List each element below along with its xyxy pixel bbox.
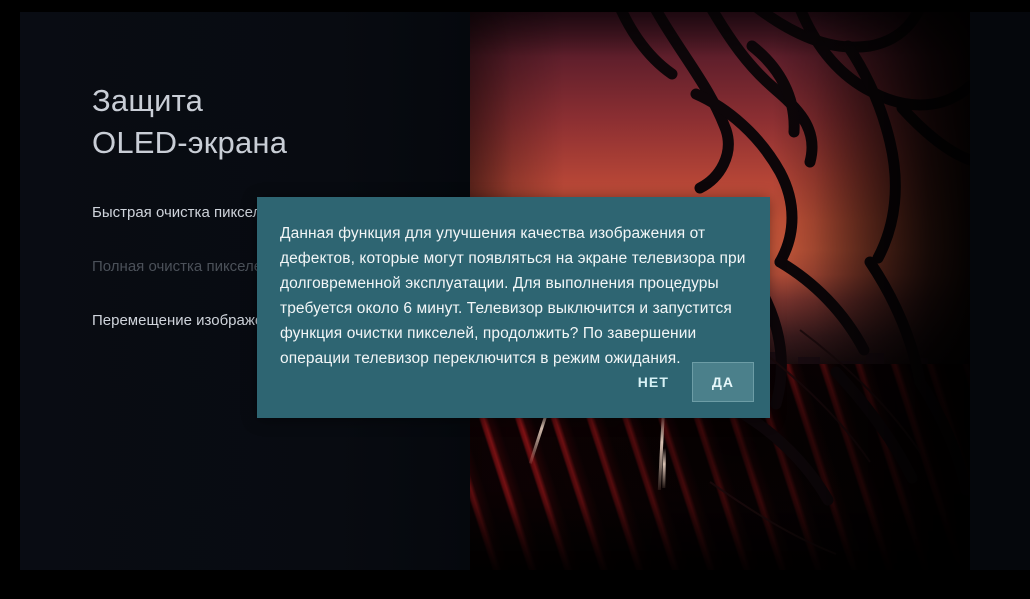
screen-edge-left [0,0,20,599]
page-title-line-2: OLED-экрана [92,122,287,164]
menu-item-label: Быстрая очистка пикселей [92,204,278,221]
no-button[interactable]: НЕТ [621,362,686,402]
dialog-message: Данная функция для улучшения качества из… [280,221,753,371]
menu-item-label: Полная очистка пикселей [92,258,271,275]
tv-screen: Защита OLED-экрана Быстрая очистка пиксе… [0,0,1030,599]
dialog-actions: НЕТ ДА [621,362,754,402]
page-title-line-1: Защита [92,80,287,122]
letterbox-bottom [0,570,1030,599]
confirmation-dialog: Данная функция для улучшения качества из… [257,197,770,418]
letterbox-top [0,0,1030,12]
page-title: Защита OLED-экрана [92,80,287,164]
yes-button[interactable]: ДА [692,362,754,402]
tv-content-area: Защита OLED-экрана Быстрая очистка пиксе… [0,12,1030,570]
